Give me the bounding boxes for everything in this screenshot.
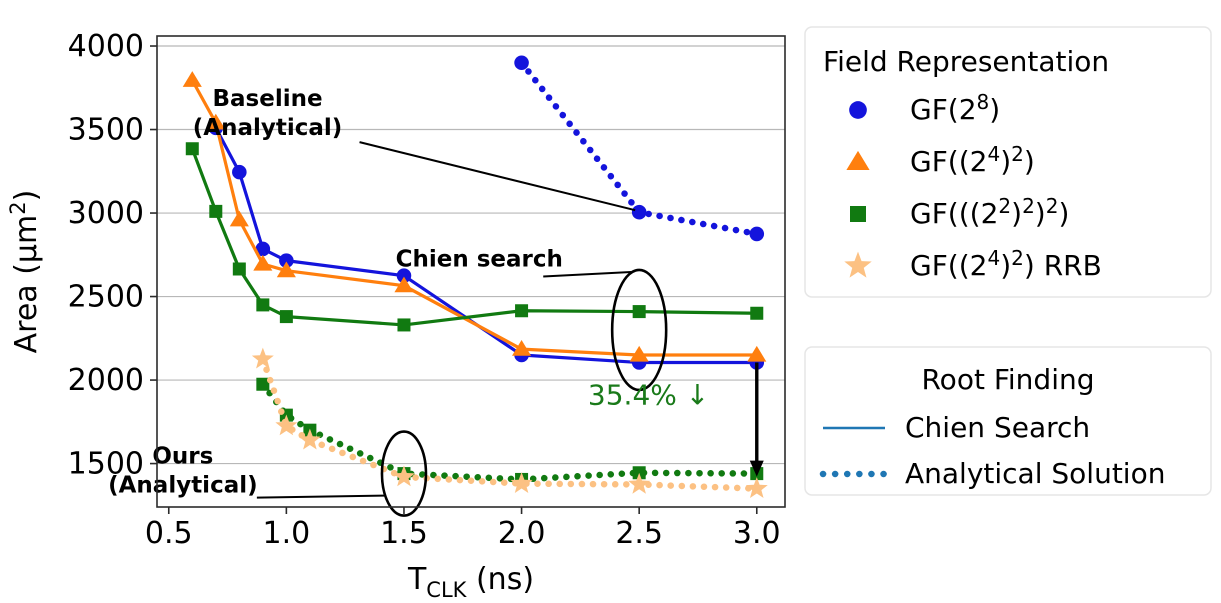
data-point-marker-square: [750, 307, 763, 320]
series-line: [216, 128, 757, 363]
annotation-text: Chien search: [396, 246, 563, 272]
series-line: [192, 149, 757, 325]
data-point-marker-circle: [514, 55, 529, 70]
y-tick-label: 1500: [68, 447, 144, 482]
legend-field-representation: Field RepresentationGF(28)GF((24)2)GF(((…: [805, 27, 1211, 297]
y-tick-label: 2500: [68, 280, 144, 315]
data-point-marker-triangle: [183, 71, 202, 87]
data-point-marker-triangle: [253, 255, 272, 271]
chart-page: Baseline(Analytical)Chien searchOurs(Ana…: [0, 0, 1221, 603]
y-tick-label: 3500: [68, 113, 144, 148]
y-tick-label: 2000: [68, 363, 144, 398]
data-point-marker-square: [233, 262, 246, 275]
annotation-chien-search: Chien search: [396, 246, 667, 389]
annotation-text: Ours: [152, 444, 213, 470]
data-point-marker-square: [209, 205, 222, 218]
svg-text:TCLK (ns): TCLK (ns): [407, 562, 534, 602]
legend-field-title: Field Representation: [823, 45, 1109, 78]
data-point-marker-square: [850, 206, 866, 222]
improvement-percent-label: 35.4% ↓: [588, 378, 709, 411]
data-point-marker-circle: [749, 227, 764, 242]
data-point-marker-star: [252, 348, 274, 369]
data-point-marker-square: [397, 318, 410, 331]
annotation-leader-line: [360, 142, 636, 210]
data-point-marker-circle: [849, 101, 867, 119]
x-tick-label: 0.5: [145, 516, 193, 551]
legend-item-label: GF(((22)2)2): [910, 194, 1069, 230]
data-point-marker-square: [186, 142, 199, 155]
data-point-marker-star: [746, 477, 768, 498]
data-point-marker-star: [511, 472, 533, 493]
data-point-marker-square: [280, 310, 293, 323]
x-tick-label: 1.5: [380, 516, 428, 551]
x-axis-label: TCLK (ns): [407, 562, 534, 602]
x-tick-label: 3.0: [733, 516, 781, 551]
data-point-marker-square: [515, 304, 528, 317]
annotation-baseline: Baseline(Analytical): [193, 86, 635, 210]
area-vs-tclk-chart: Baseline(Analytical)Chien searchOurs(Ana…: [0, 0, 1221, 603]
legend-item-label: Analytical Solution: [905, 457, 1165, 490]
annotation-ours: Ours(Analytical): [108, 432, 426, 516]
x-tick-label: 2.5: [615, 516, 663, 551]
data-point-marker-square: [633, 305, 646, 318]
y-axis-label: Area (μm2): [6, 190, 44, 354]
data-point-marker-circle: [232, 165, 247, 180]
legend-item-label: GF((24)2) RRB: [910, 246, 1102, 282]
annotation-text: Baseline: [212, 86, 322, 112]
series-0: [209, 121, 765, 370]
legend-item-label: Chien Search: [905, 411, 1090, 444]
data-point-marker-square: [256, 298, 269, 311]
annotation-text: (Analytical): [193, 115, 343, 141]
data-point-marker-star: [393, 465, 415, 486]
annotations-group: Baseline(Analytical)Chien searchOurs(Ana…: [108, 86, 764, 515]
y-tick-label: 3000: [68, 196, 144, 231]
legend-root-finding: Root FindingChien SearchAnalytical Solut…: [805, 347, 1211, 495]
y-tick-label: 4000: [68, 29, 144, 64]
legend-root-title: Root Finding: [921, 363, 1094, 396]
legends-group: Field RepresentationGF(28)GF((24)2)GF(((…: [805, 27, 1211, 495]
annotation-ellipse: [612, 270, 666, 390]
data-point-marker-star: [299, 429, 321, 450]
x-tick-label: 2.0: [498, 516, 546, 551]
svg-text:Area (μm2): Area (μm2): [6, 190, 44, 354]
annotation-leader-line: [257, 496, 385, 498]
data-point-marker-circle: [632, 205, 647, 220]
annotation-leader-line: [543, 272, 631, 277]
x-tick-label: 1.0: [263, 516, 311, 551]
